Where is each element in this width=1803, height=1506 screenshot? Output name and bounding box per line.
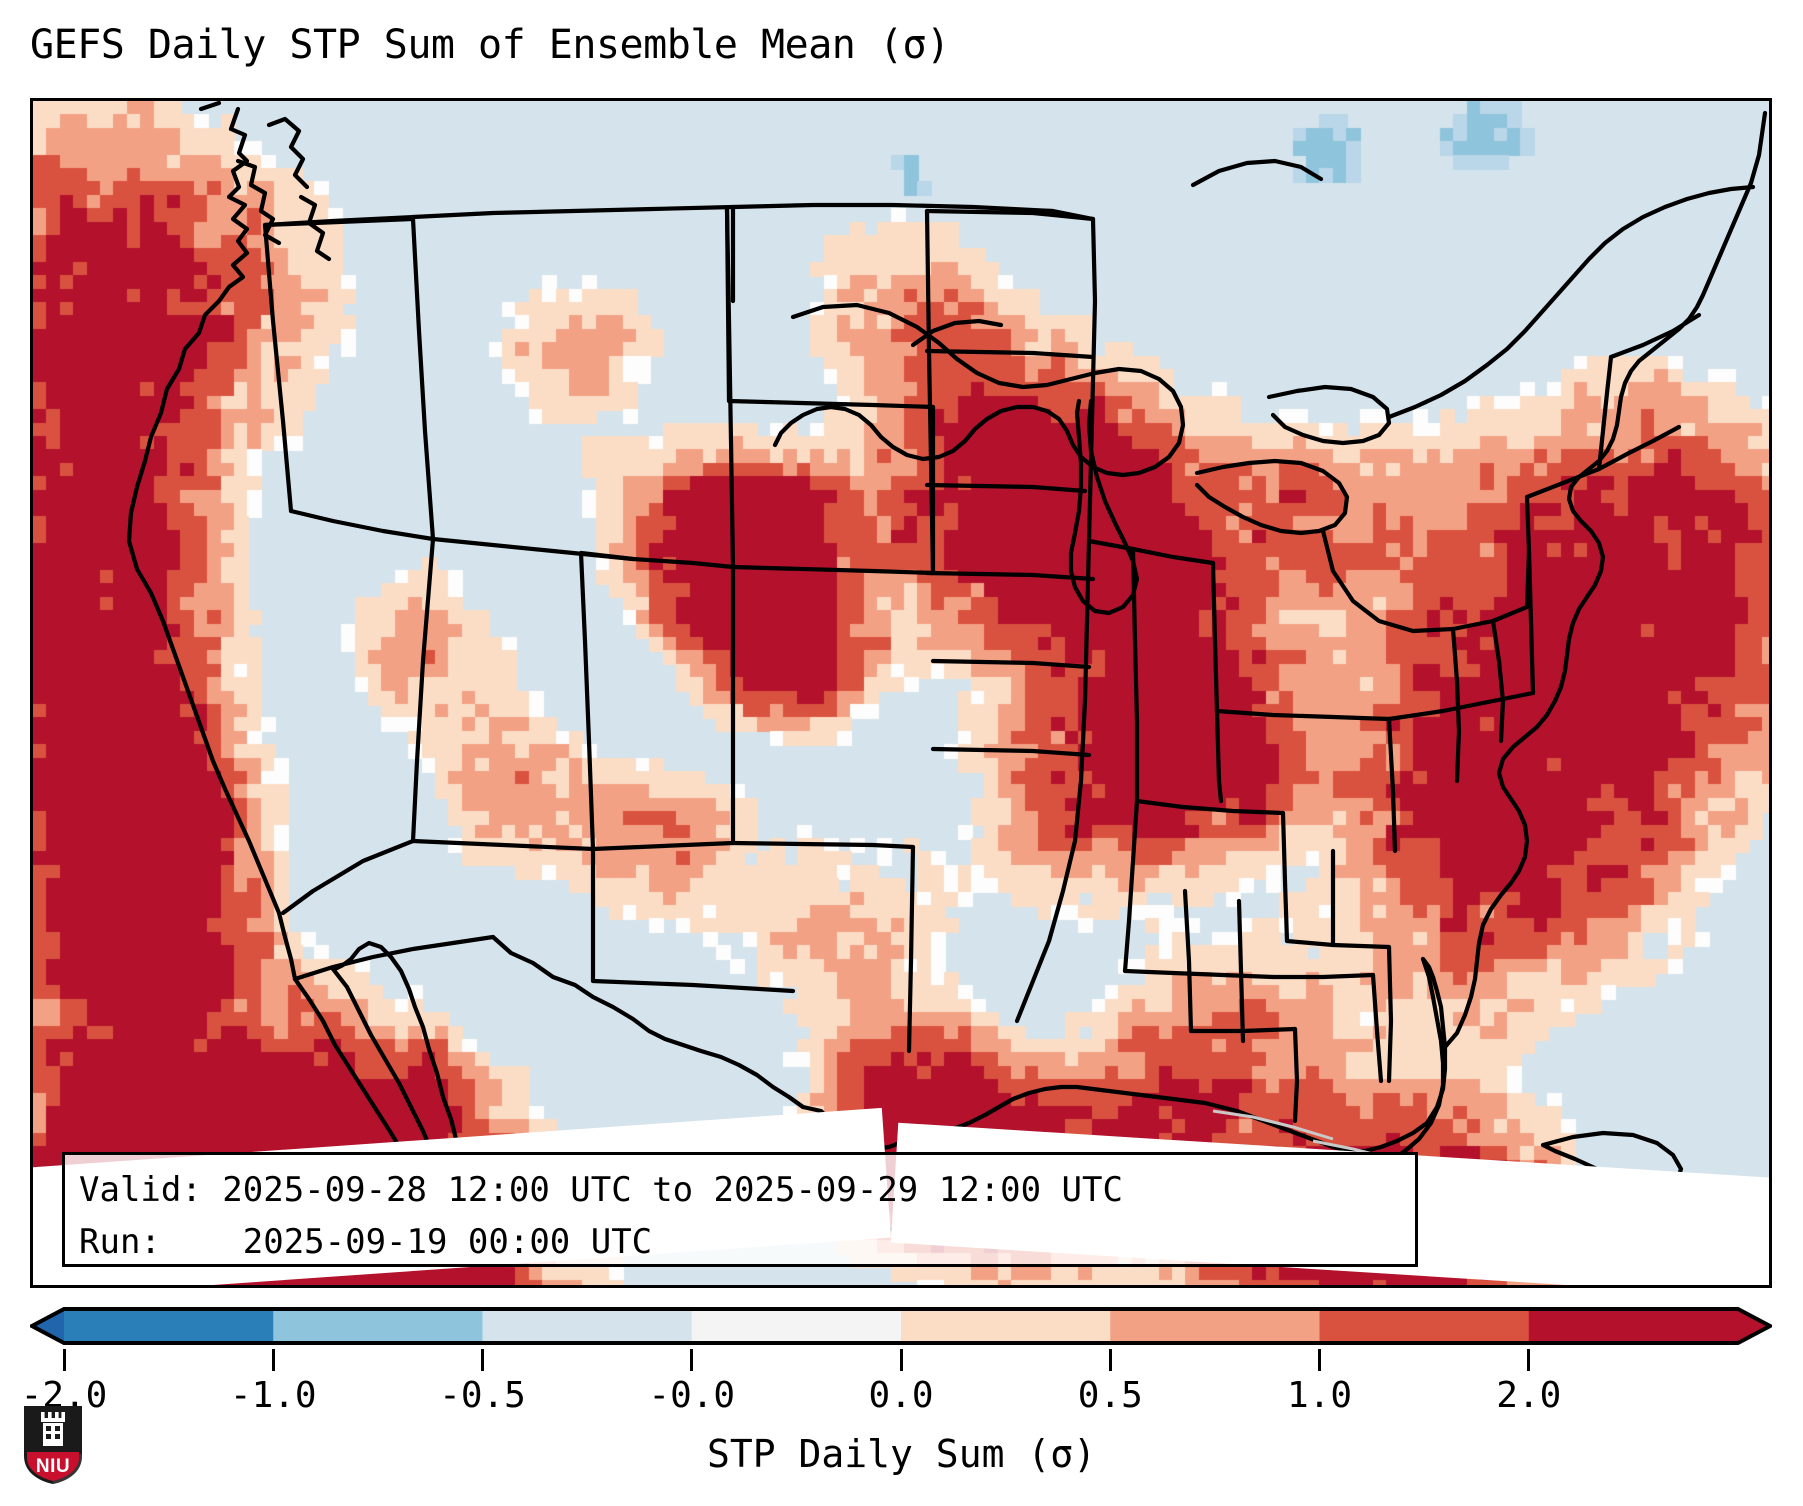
- colorbar-tick: [900, 1349, 903, 1371]
- niu-logo-text: NIU: [36, 1456, 70, 1477]
- colorbar-tick-label: 2.0: [1496, 1375, 1561, 1416]
- colorbar-tick: [272, 1349, 275, 1371]
- map-axes[interactable]: [30, 98, 1772, 1288]
- colorbar-axis-label: STP Daily Sum (σ): [0, 1432, 1803, 1476]
- map-clip: [33, 101, 1769, 1285]
- colorbar-tick: [63, 1349, 66, 1371]
- colorbar-ticks: -2.0-1.0-0.5-0.00.00.51.02.0: [0, 1349, 1803, 1379]
- page-title: GEFS Daily STP Sum of Ensemble Mean (σ): [30, 22, 950, 68]
- colorbar-tick: [1109, 1349, 1112, 1371]
- valid-time-line: Valid: 2025-09-28 12:00 UTC to 2025-09-2…: [79, 1165, 1401, 1217]
- colorbar-tick: [690, 1349, 693, 1371]
- colorbar-tick-label: -1.0: [230, 1375, 317, 1416]
- colorbar-tick-label: 0.0: [868, 1375, 933, 1416]
- run-time-line: Run: 2025-09-19 00:00 UTC: [79, 1217, 1401, 1269]
- colorbar-tick: [1527, 1349, 1530, 1371]
- colorbar[interactable]: [30, 1303, 1772, 1349]
- colorbar-tick: [1318, 1349, 1321, 1371]
- niu-logo[interactable]: NIU: [22, 1404, 84, 1486]
- forecast-info-box: Valid: 2025-09-28 12:00 UTC to 2025-09-2…: [62, 1152, 1418, 1267]
- colorbar-tick-label: -0.5: [439, 1375, 526, 1416]
- colorbar-tick-label: 1.0: [1287, 1375, 1352, 1416]
- colorbar-swatches: [30, 1303, 1772, 1349]
- colorbar-tick-label: -0.0: [648, 1375, 735, 1416]
- geography-overlay: [33, 101, 1769, 1285]
- colorbar-tick: [481, 1349, 484, 1371]
- figure-canvas: GEFS Daily STP Sum of Ensemble Mean (σ) …: [0, 0, 1803, 1506]
- colorbar-tick-label: 0.5: [1078, 1375, 1143, 1416]
